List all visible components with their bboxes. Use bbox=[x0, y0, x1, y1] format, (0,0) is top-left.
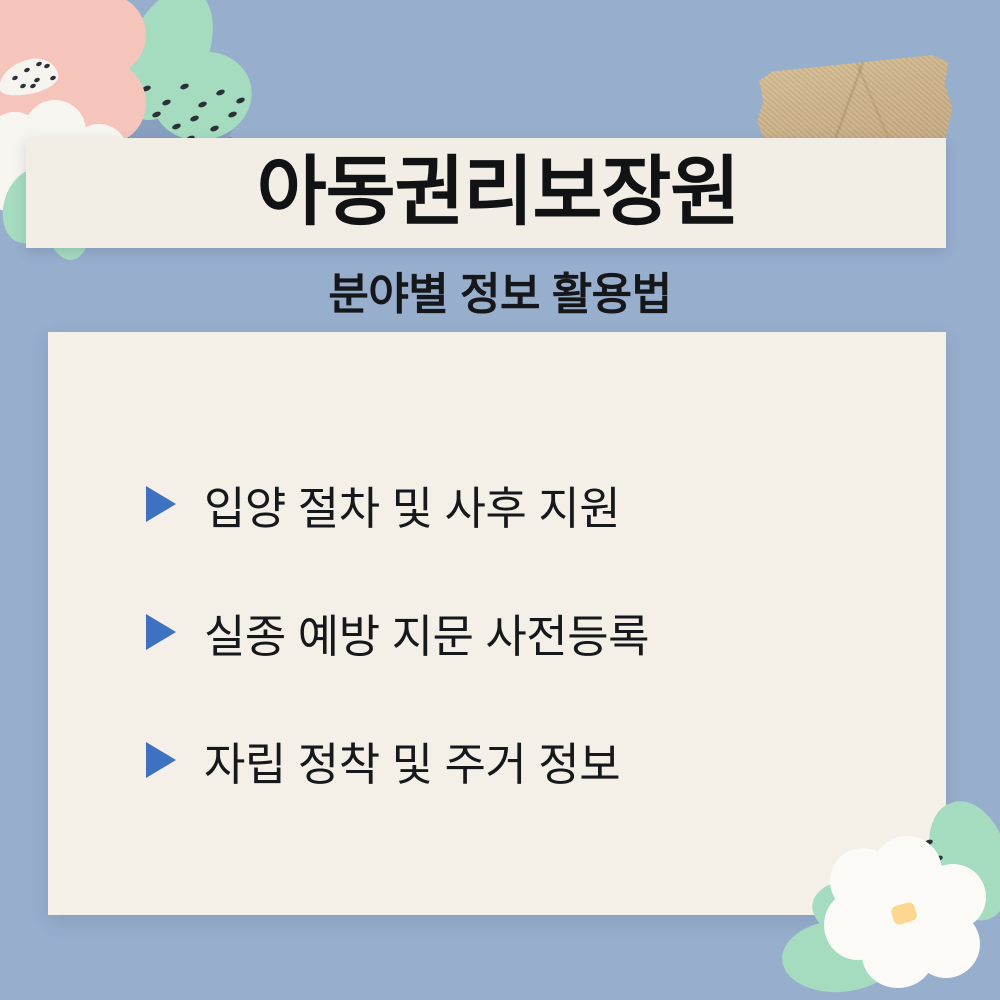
list-item[interactable]: 자립 정착 및 주거 정보 bbox=[146, 696, 906, 824]
list-item[interactable]: 입양 절차 및 사후 지원 bbox=[146, 440, 906, 568]
list-item-label: 실종 예방 지문 사전등록 bbox=[204, 600, 649, 665]
list-item[interactable]: 실종 예방 지문 사전등록 bbox=[146, 568, 906, 696]
triangle-right-icon bbox=[146, 486, 176, 522]
leaf-icon bbox=[780, 916, 901, 996]
list-item-label: 입양 절차 및 사후 지원 bbox=[204, 472, 620, 537]
content-card: 입양 절차 및 사후 지원 실종 예방 지문 사전등록 자립 정착 및 주거 정… bbox=[48, 332, 946, 915]
page-title: 아동권리보장원 bbox=[26, 155, 946, 231]
triangle-right-icon bbox=[146, 742, 176, 778]
topic-list: 입양 절차 및 사후 지원 실종 예방 지문 사전등록 자립 정착 및 주거 정… bbox=[146, 440, 906, 824]
leaf-icon bbox=[105, 0, 229, 134]
flower-center bbox=[0, 54, 61, 100]
stamen-dots-icon bbox=[4, 60, 62, 92]
title-banner: 아동권리보장원 bbox=[26, 138, 946, 248]
leaf-icon bbox=[143, 41, 261, 151]
poster-canvas: 아동권리보장원 분야별 정보 활용법 입양 절차 및 사후 지원 실종 예방 지… bbox=[0, 0, 1000, 1000]
list-item-label: 자립 정착 및 주거 정보 bbox=[204, 728, 620, 793]
triangle-right-icon bbox=[146, 614, 176, 650]
page-subtitle: 분야별 정보 활용법 bbox=[0, 258, 1000, 322]
